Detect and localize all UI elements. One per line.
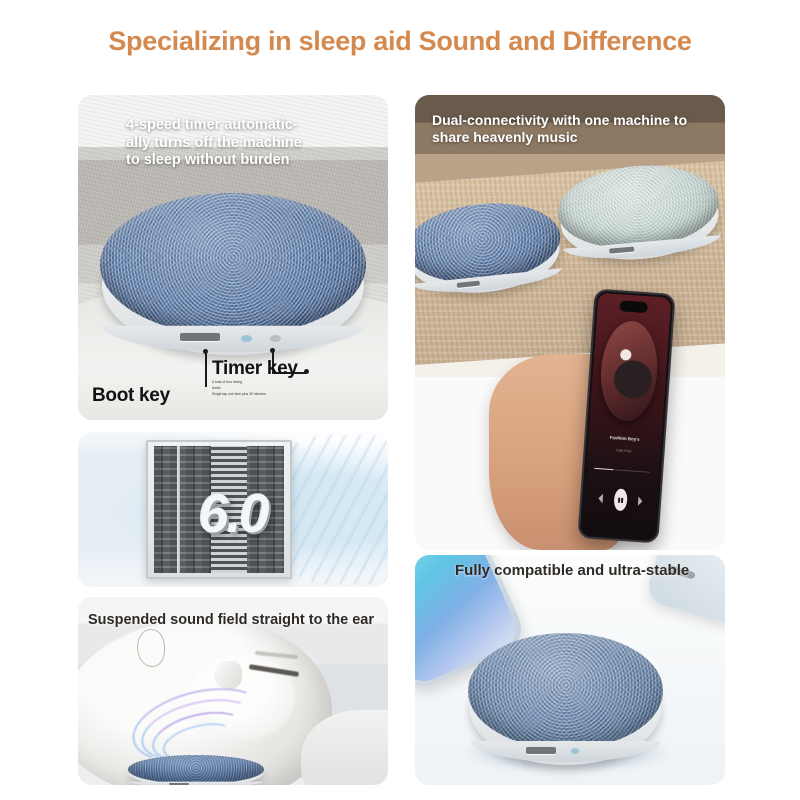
previous-track-icon[interactable] <box>598 493 603 503</box>
track-artist: Kath Fred <box>587 446 661 455</box>
caption-dual-connectivity: Dual-connectivity with one machine to sh… <box>432 112 722 146</box>
label-timer-key: Timer key <box>212 358 298 380</box>
boot-key-button[interactable] <box>241 335 252 342</box>
speaker-mesh-fabric <box>468 633 663 749</box>
speaker-device-under-pillow <box>128 755 264 785</box>
speaker-device-blue-main <box>468 633 663 762</box>
caption-sound-field: Suspended sound field straight to the ea… <box>88 612 388 630</box>
next-track-icon[interactable] <box>637 496 642 506</box>
panel-compatibility[interactable] <box>415 555 725 785</box>
usb-port-icon <box>169 783 189 785</box>
usb-port-icon <box>180 333 220 342</box>
usb-port-icon <box>526 747 555 754</box>
mannequin-ear <box>137 629 165 667</box>
boot-key-leader-line <box>205 351 207 387</box>
dual-connectivity-scene: Fashion Boy's Kath Fred <box>415 95 725 550</box>
speaker-mesh-fabric <box>100 193 367 336</box>
album-art <box>598 319 661 422</box>
smartphone[interactable]: Fashion Boy's Kath Fred <box>577 288 675 543</box>
boot-key-leader-dot <box>203 349 208 354</box>
label-timer-key-description: A total of four timing levels Single tap… <box>212 380 308 398</box>
version-number: 6.0 <box>78 483 388 545</box>
speaker-device-mint <box>554 159 723 264</box>
timer-key-leader-endpoint <box>304 369 309 374</box>
phone-notch <box>619 300 648 313</box>
phone-screen[interactable]: Fashion Boy's Kath Fred <box>581 292 671 540</box>
speaker-device-blue <box>100 193 367 352</box>
speaker-device-blue-secondary <box>415 196 565 298</box>
progress-bar-fill <box>594 467 613 470</box>
timer-key-leader-dot <box>270 348 275 353</box>
panel-dual-connectivity[interactable]: Fashion Boy's Kath Fred <box>415 95 725 550</box>
page-title: Specializing in sleep aid Sound and Diff… <box>0 26 800 57</box>
caption-compatibility: Fully compatible and ultra-stable <box>455 562 735 580</box>
pause-button[interactable] <box>613 488 627 511</box>
timer-key-button[interactable] <box>270 335 281 342</box>
panel-six-zero[interactable]: 6.0 <box>78 432 388 587</box>
compatibility-scene <box>415 555 725 785</box>
track-title: Fashion Boy's <box>587 433 661 443</box>
progress-bar[interactable] <box>594 467 650 472</box>
caption-timer: 4-speed timer automatic- ally turns off … <box>126 117 341 170</box>
mannequin-nose <box>214 661 242 689</box>
label-boot-key: Boot key <box>92 385 170 407</box>
speaker-mesh-fabric <box>128 755 264 784</box>
factory-scene: 6.0 <box>78 432 388 587</box>
